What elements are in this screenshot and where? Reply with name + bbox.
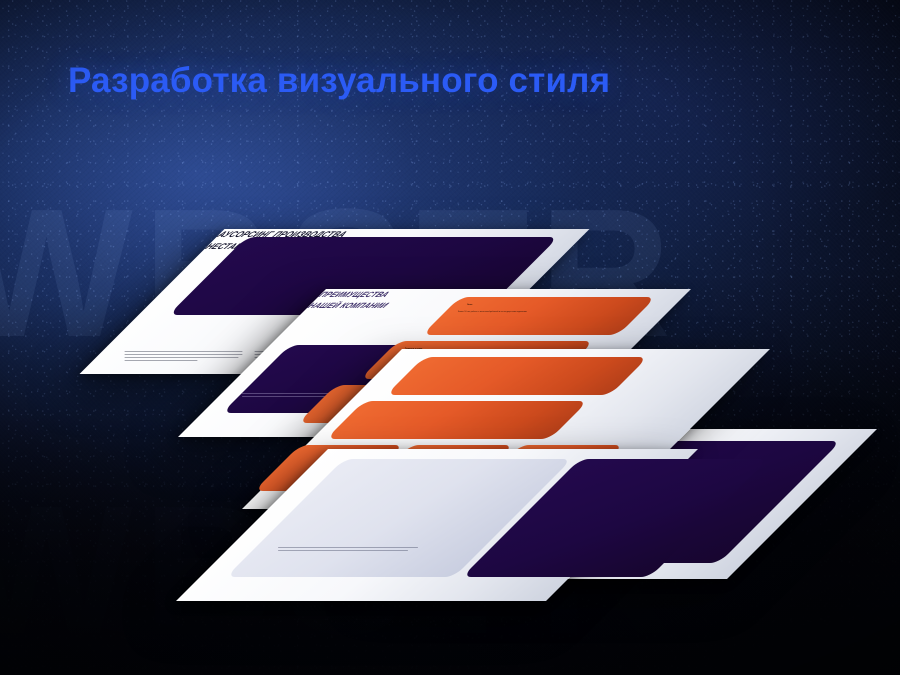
advantages-card-1[interactable]: Опыт Более 10 лет работы с металлообрабо… xyxy=(422,297,656,335)
summary-body xyxy=(278,547,418,553)
services-card-2[interactable] xyxy=(326,401,588,439)
slide-canvas: WBSTR WBSTR Разработка визуального стиля… xyxy=(0,0,900,675)
advantages-card-1-title: Опыт xyxy=(467,304,472,307)
services-card-1[interactable] xyxy=(386,357,648,395)
cover-body-left xyxy=(125,351,243,363)
advantages-card-1-text: Более 10 лет работы с металлообработкой … xyxy=(458,311,527,314)
